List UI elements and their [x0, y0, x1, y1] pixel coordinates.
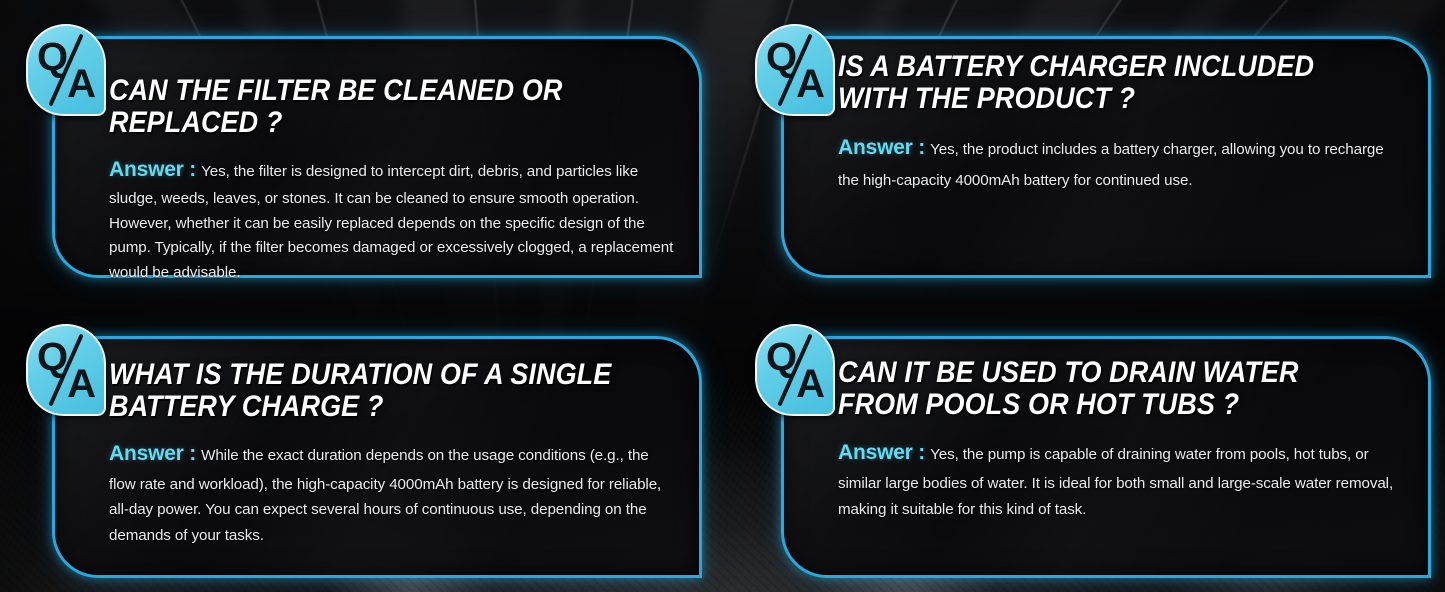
card-content: What is the duration of a single battery…	[109, 359, 677, 565]
answer-text: Answer :Yes, the pump is capable of drai…	[838, 435, 1406, 522]
faq-card[interactable]: What is the duration of a single battery…	[52, 336, 702, 578]
badge-a-letter: A	[67, 364, 96, 404]
answer-label: Answer :	[838, 441, 925, 464]
badge-a-letter: A	[796, 364, 825, 404]
question-text: What is the duration of a single battery…	[109, 359, 620, 423]
qa-badge: Q A	[755, 24, 835, 116]
faq-cell-bottom-left: What is the duration of a single battery…	[0, 308, 716, 592]
faq-cell-bottom-right: Can it be used to drain water from pools…	[729, 308, 1445, 592]
qa-badge-icon: Q A	[26, 324, 106, 416]
answer-text: Answer :While the exact duration depends…	[109, 437, 677, 548]
question-text: Is a battery charger included with the p…	[838, 51, 1349, 115]
faq-panel: Can the filter be cleaned or replaced ? …	[0, 0, 1445, 592]
faq-cell-top-left: Can the filter be cleaned or replaced ? …	[0, 8, 716, 300]
answer-text: Answer :Yes, the product includes a batt…	[838, 129, 1406, 193]
card-content: Can the filter be cleaned or replaced ? …	[109, 75, 677, 265]
faq-card-grid: Can the filter be cleaned or replaced ? …	[0, 0, 1445, 592]
qa-badge-icon: Q A	[755, 24, 835, 116]
qa-badge-icon: Q A	[26, 24, 106, 116]
qa-badge-icon: Q A	[755, 324, 835, 416]
faq-cell-top-right: Is a battery charger included with the p…	[729, 8, 1445, 300]
card-content: Is a battery charger included with the p…	[838, 51, 1406, 265]
card-content: Can it be used to drain water from pools…	[838, 357, 1406, 565]
qa-badge: Q A	[755, 324, 835, 416]
answer-label: Answer :	[109, 158, 196, 181]
faq-card[interactable]: Can the filter be cleaned or replaced ? …	[52, 36, 702, 278]
answer-text: Answer :Yes, the filter is designed to i…	[109, 153, 677, 286]
faq-card[interactable]: Can it be used to drain water from pools…	[781, 336, 1431, 578]
question-text: Can it be used to drain water from pools…	[838, 357, 1349, 421]
qa-badge: Q A	[26, 24, 106, 116]
answer-label: Answer :	[109, 442, 196, 465]
question-text: Can the filter be cleaned or replaced ?	[109, 75, 620, 139]
qa-badge: Q A	[26, 324, 106, 416]
badge-a-letter: A	[67, 64, 96, 104]
answer-label: Answer :	[838, 136, 925, 159]
faq-card[interactable]: Is a battery charger included with the p…	[781, 36, 1431, 278]
badge-a-letter: A	[796, 64, 825, 104]
